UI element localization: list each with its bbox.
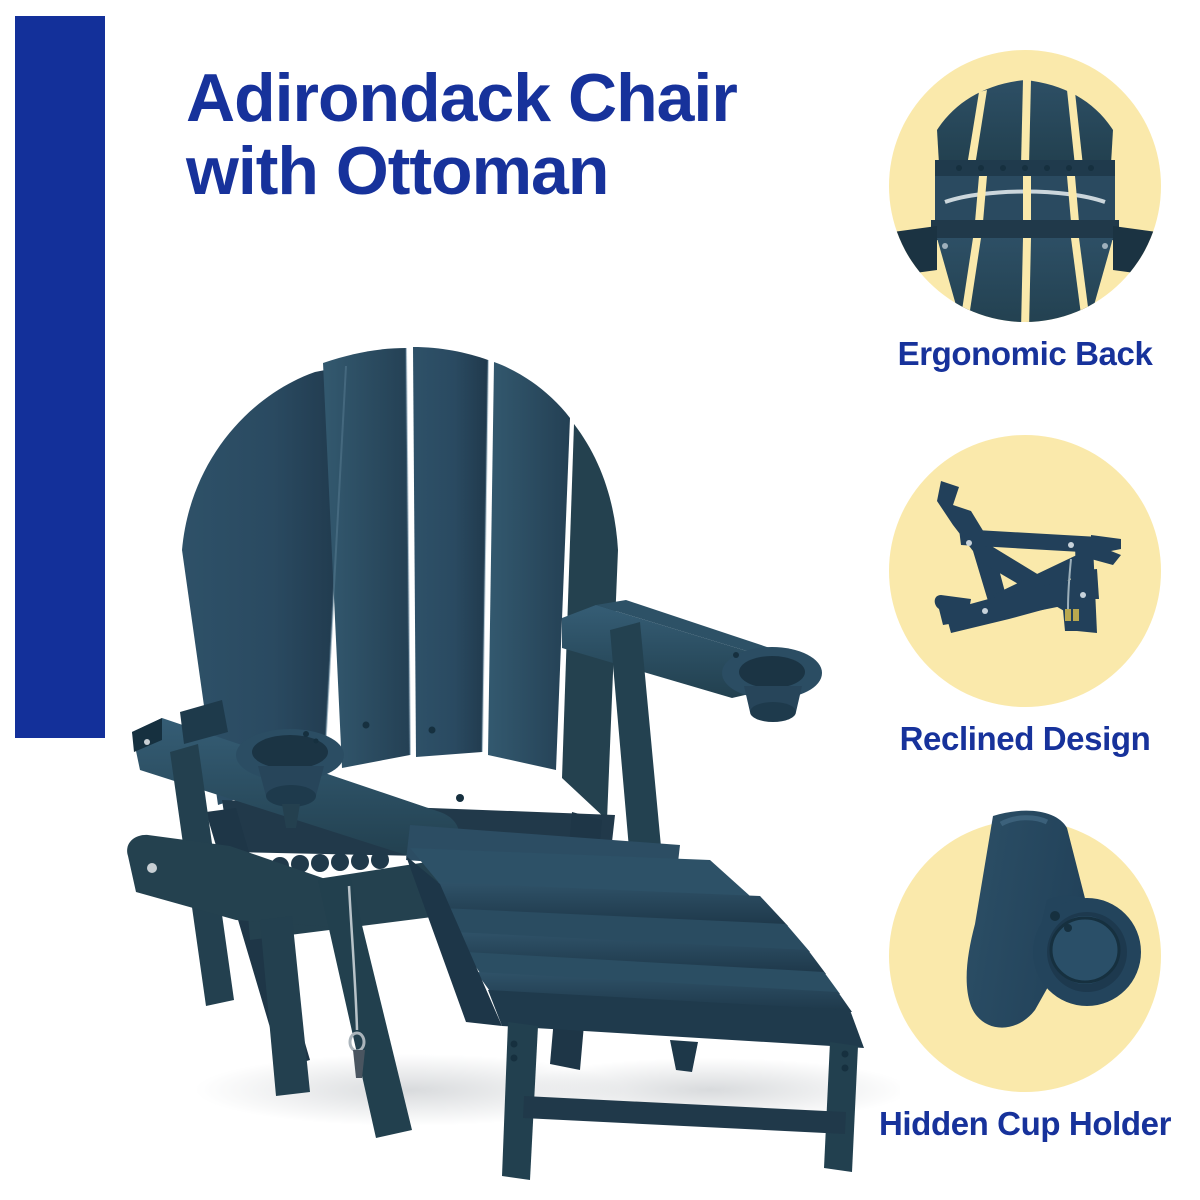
infographic-root: Adirondack Chair with Ottoman xyxy=(0,0,1200,1200)
hero-product-image xyxy=(110,300,900,1180)
feature-reclined-design: Reclined Design xyxy=(860,435,1190,810)
cup-holder-icon xyxy=(875,804,1175,1104)
feature-2-circle xyxy=(889,435,1161,707)
feature-3-label: Hidden Cup Holder xyxy=(860,1106,1190,1142)
ottoman-footrest xyxy=(406,848,864,1180)
feature-1-circle xyxy=(889,50,1161,322)
feature-1-label: Ergonomic Back xyxy=(860,336,1190,372)
chair-side-profile-icon xyxy=(875,419,1175,719)
right-cup-holder xyxy=(722,647,822,722)
feature-2-label: Reclined Design xyxy=(860,721,1190,757)
page-title-line-2: with Ottoman xyxy=(186,135,886,208)
left-accent-bar xyxy=(15,16,105,738)
feature-hidden-cup-holder: Hidden Cup Holder xyxy=(860,820,1190,1195)
chair-back-icon xyxy=(875,34,1175,334)
feature-list: Ergonomic Back xyxy=(860,40,1190,1170)
feature-3-circle xyxy=(889,820,1161,1092)
page-title-line-1: Adirondack Chair xyxy=(186,62,886,135)
feature-ergonomic-back: Ergonomic Back xyxy=(860,50,1190,425)
page-title: Adirondack Chair with Ottoman xyxy=(186,62,886,208)
